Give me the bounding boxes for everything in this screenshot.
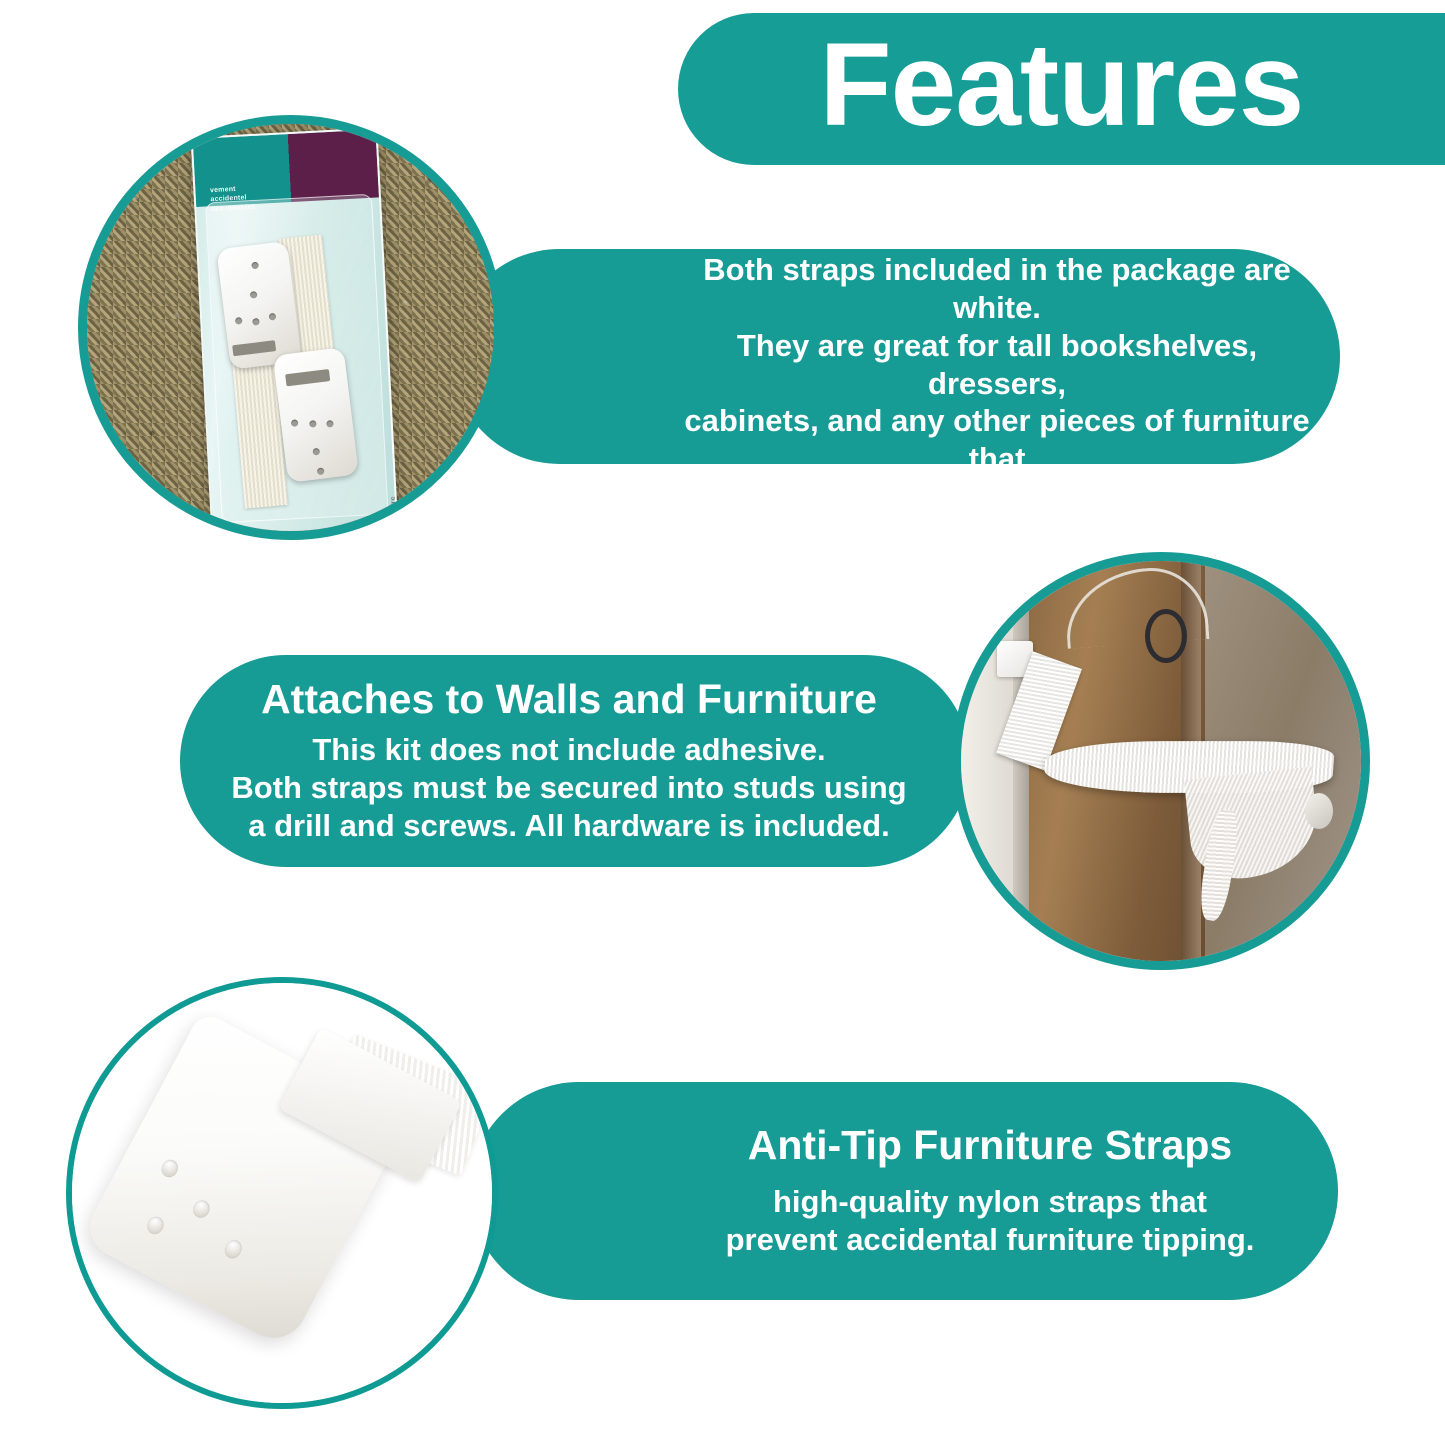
feature-body-1: Both straps included in the package are …	[682, 251, 1312, 516]
feature-title-1: White Furniture Straps	[776, 197, 1218, 243]
feature-panel-anti-tip-furniture-straps: Anti-Tip Furniture Straps high-quality n…	[470, 1082, 1338, 1300]
feature-panel-white-furniture-straps: White Furniture Straps Both straps inclu…	[452, 249, 1340, 464]
package-sku-text: 5142	[389, 496, 397, 512]
photo-packaged-white-straps-on-carpet: vement accidentel des meubles	[78, 115, 503, 540]
buckle-lower	[273, 347, 359, 482]
header-banner: Features	[678, 13, 1445, 165]
buckle-upper	[216, 242, 301, 371]
furniture-screw-mount	[1305, 793, 1333, 829]
feature-title-3: Anti-Tip Furniture Straps	[748, 1123, 1232, 1169]
wall-surface	[961, 561, 1021, 961]
feature-body-2: This kit does not include adhesive. Both…	[231, 731, 906, 844]
white-studio-background	[72, 983, 492, 1403]
room-scene	[961, 561, 1361, 961]
product-package: vement accidentel des meubles	[191, 128, 399, 531]
photo-white-plastic-bracket-with-nylon-strap	[66, 977, 498, 1409]
feature-title-2: Attaches to Walls and Furniture	[261, 677, 877, 723]
page-title: Features	[820, 26, 1304, 144]
feature-body-3: high-quality nylon straps that prevent a…	[726, 1183, 1255, 1259]
infographic-canvas: Features White Furniture Straps Both str…	[0, 0, 1445, 1445]
cord-ring	[1145, 609, 1187, 663]
photo-1-content: vement accidentel des meubles	[87, 124, 494, 531]
photo-strap-mounted-between-wall-and-furniture	[952, 552, 1370, 970]
feature-panel-attaches-to-walls-and-furniture: Attaches to Walls and Furniture This kit…	[180, 655, 970, 867]
photo-3-content	[72, 983, 492, 1403]
package-blister	[205, 194, 388, 523]
photo-2-content	[961, 561, 1361, 961]
